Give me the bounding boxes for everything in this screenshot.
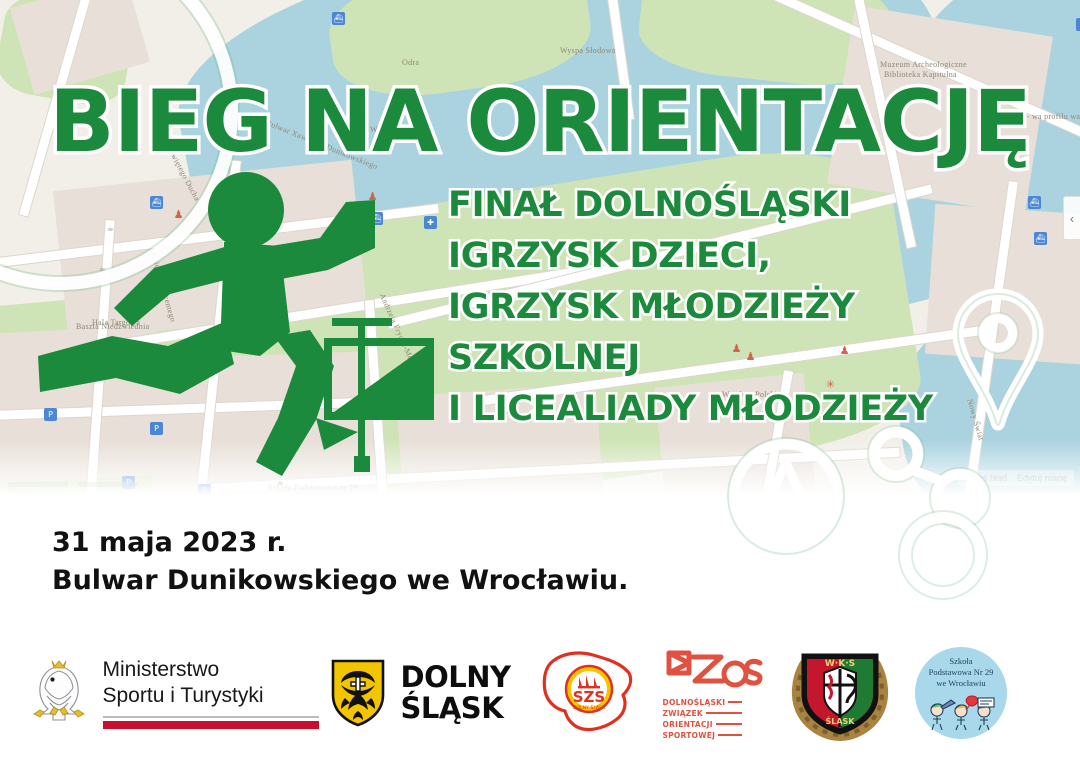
polish-eagle-icon: [28, 657, 90, 729]
map-street-label: Wyspa Słodowa: [560, 46, 616, 55]
map-street-label: Odra: [402, 58, 419, 67]
sp29-line-1: Szkoła: [949, 656, 972, 667]
logo-dzos: DOLNOŚLĄSKI ZWIĄZEK ORIENTACJI SPORTOWEJ: [647, 641, 782, 745]
subtitle-line-5: I LICEALIADY MŁODZIEŻY: [448, 384, 1068, 435]
ministry-rule-grey: [103, 716, 319, 718]
ministry-label-line2: Sportu i Turystyki: [103, 683, 319, 709]
sp29-line-3: we Wrocławiu: [936, 678, 985, 689]
dolny-slask-line1: DOLNY: [401, 662, 511, 693]
map-poi-marker: P: [1076, 18, 1080, 31]
dzos-line-2: ZWIĄZEK: [663, 709, 743, 718]
lower-silesia-coat-of-arms-icon: [329, 658, 387, 728]
partner-logo-strip: Ministerstwo Sportu i Turystyki: [0, 638, 1080, 748]
sp29-line-2: Podstawowa Nr 29: [929, 667, 994, 678]
dzos-line-1: DOLNOŚLĄSKI: [663, 698, 743, 707]
szs-mark-text: SZS: [573, 688, 605, 706]
subtitle-line-2: IGRZYSK DZIECI,: [448, 231, 1068, 282]
event-location: Bulwar Dunikowskiego we Wrocławiu.: [52, 562, 628, 600]
sp29-children-illustration-icon: [922, 692, 1000, 732]
logo-szs: SZS DOLNY ŚLĄSK: [527, 641, 647, 745]
dzos-line-4: SPORTOWEJ: [663, 731, 743, 740]
ministry-label-line1: Ministerstwo: [103, 657, 319, 683]
event-date: 31 maja 2023 r.: [52, 524, 628, 562]
dzos-line-3: ORIENTACJI: [663, 720, 743, 729]
logo-sp29: Szkoła Podstawowa Nr 29 we Wrocławiu: [897, 641, 1025, 745]
logo-wks-slask: W·K·S ŚLĄSK: [782, 641, 897, 745]
map-street-label: Muzeum Archeologiczne: [880, 60, 967, 69]
map-poi-marker: ⛴: [332, 12, 345, 25]
dolny-slask-line2: ŚLĄSK: [401, 693, 511, 724]
ministry-rule-red: [103, 721, 319, 729]
page-title: BIEG NA ORIENTACJĘ: [0, 76, 1080, 168]
control-circle-small-icon: [900, 512, 986, 598]
subtitle-block: FINAŁ DOLNOŚLĄSKI IGRZYSK DZIECI, IGRZYS…: [448, 180, 1068, 435]
subtitle-line-4: SZKOLNEJ: [448, 333, 1068, 384]
subtitle-line-3: IGRZYSK MŁODZIEŻY: [448, 282, 1068, 333]
wks-top-text: W·K·S: [824, 659, 854, 669]
logo-ministry-sport-tourism: Ministerstwo Sportu i Turystyki: [34, 641, 312, 745]
subtitle-line-1: FINAŁ DOLNOŚLĄSKI: [448, 180, 1068, 231]
wks-bottom-text: ŚLĄSK: [825, 715, 855, 726]
szs-region-icon: SZS DOLNY ŚLĄSK: [533, 645, 641, 741]
logo-dolny-slask: DOLNY ŚLĄSK: [312, 641, 527, 745]
event-details: 31 maja 2023 r. Bulwar Dunikowskiego we …: [52, 524, 628, 600]
szs-submark-text: DOLNY ŚLĄSK: [573, 704, 606, 711]
dzos-mark-icon: [663, 647, 767, 693]
poster-root: OdraŚwiętego DuchaKsiędza WincentegoBulw…: [0, 0, 1080, 764]
orienteering-runner-icon: [28, 150, 448, 505]
wks-crest-icon: W·K·S ŚLĄSK: [789, 645, 891, 741]
